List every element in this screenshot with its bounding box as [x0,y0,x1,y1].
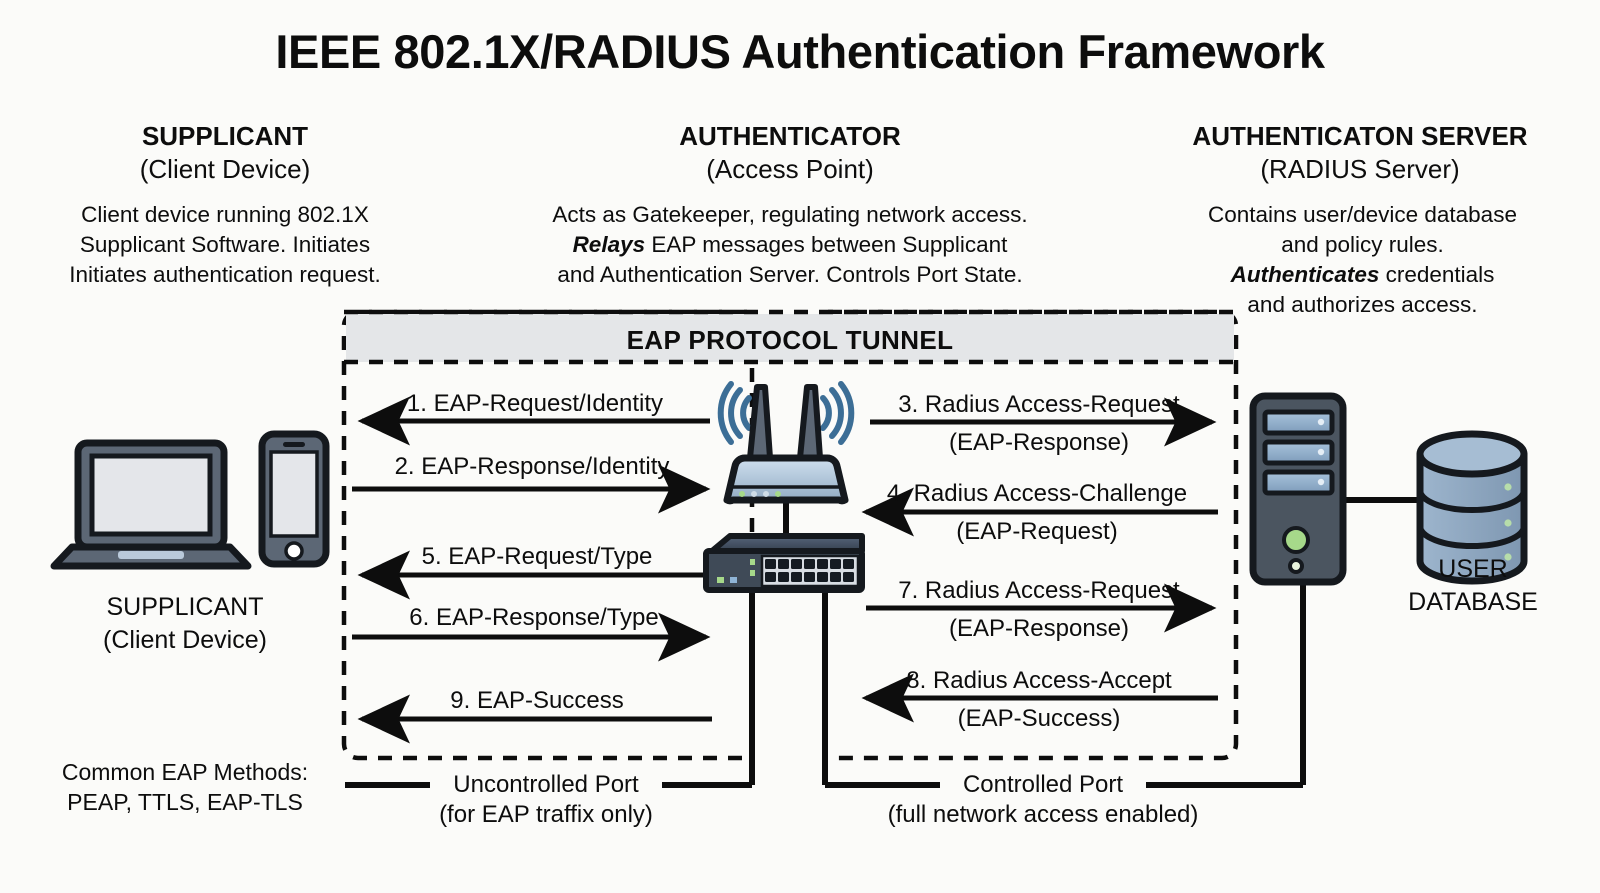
controlled-port-line1: Controlled Port [875,770,1211,800]
wireless-access-point-icon [721,384,852,501]
message-label-3-line2: (EAP-Response) [866,428,1212,457]
message-label-8-line1: 8. Radius Access-Accept [866,666,1212,695]
eap-methods-line2: PEAP, TTLS, EAP-TLS [30,787,340,817]
user-database-caption-line2: DATABASE [1380,586,1566,619]
message-label-3: 3. Radius Access-Request (EAP-Response) [866,390,1212,457]
laptop-icon [54,443,248,566]
supplicant-caption: SUPPLICANT (Client Device) [40,591,330,657]
message-label-9: 9. EAP-Success [362,686,712,715]
message-label-1: 1. EAP-Request/Identity [360,389,710,418]
message-label-8-line2: (EAP-Success) [866,704,1212,733]
message-label-4-line2: (EAP-Request) [860,517,1214,546]
smartphone-icon [262,434,326,564]
user-database-caption: USER DATABASE [1380,553,1566,619]
supplicant-caption-line1: SUPPLICANT [40,591,330,624]
message-label-7-line2: (EAP-Response) [866,614,1212,643]
message-label-5: 5. EAP-Request/Type [362,542,712,571]
eap-tunnel-banner-label: EAP PROTOCOL TUNNEL [344,325,1236,356]
message-label-3-line1: 3. Radius Access-Request [866,390,1212,419]
controlled-port-line2: (full network access enabled) [875,800,1211,830]
eap-methods-note: Common EAP Methods: PEAP, TTLS, EAP-TLS [30,757,340,817]
uncontrolled-port-label: Uncontrolled Port (for EAP traffix only) [396,770,696,830]
message-label-7-line1: 7. Radius Access-Request [866,576,1212,605]
message-label-2: 2. EAP-Response/Identity [352,452,712,481]
message-label-4-line1: 4. Radius Access-Challenge [860,479,1214,508]
message-label-6: 6. EAP-Response/Type [356,603,712,632]
server-tower-icon [1253,396,1343,582]
user-database-caption-line1: USER [1380,553,1566,586]
controlled-port-label: Controlled Port (full network access ena… [875,770,1211,830]
uncontrolled-port-line1: Uncontrolled Port [396,770,696,800]
eap-methods-line1: Common EAP Methods: [30,757,340,787]
message-label-7: 7. Radius Access-Request (EAP-Response) [866,576,1212,643]
supplicant-caption-line2: (Client Device) [40,624,330,657]
message-label-4: 4. Radius Access-Challenge (EAP-Request) [860,479,1214,546]
uncontrolled-port-line2: (for EAP traffix only) [396,800,696,830]
diagram-canvas: IEEE 802.1X/RADIUS Authentication Framew… [0,0,1600,893]
network-switch-icon [706,536,862,590]
message-label-8: 8. Radius Access-Accept (EAP-Success) [866,666,1212,733]
